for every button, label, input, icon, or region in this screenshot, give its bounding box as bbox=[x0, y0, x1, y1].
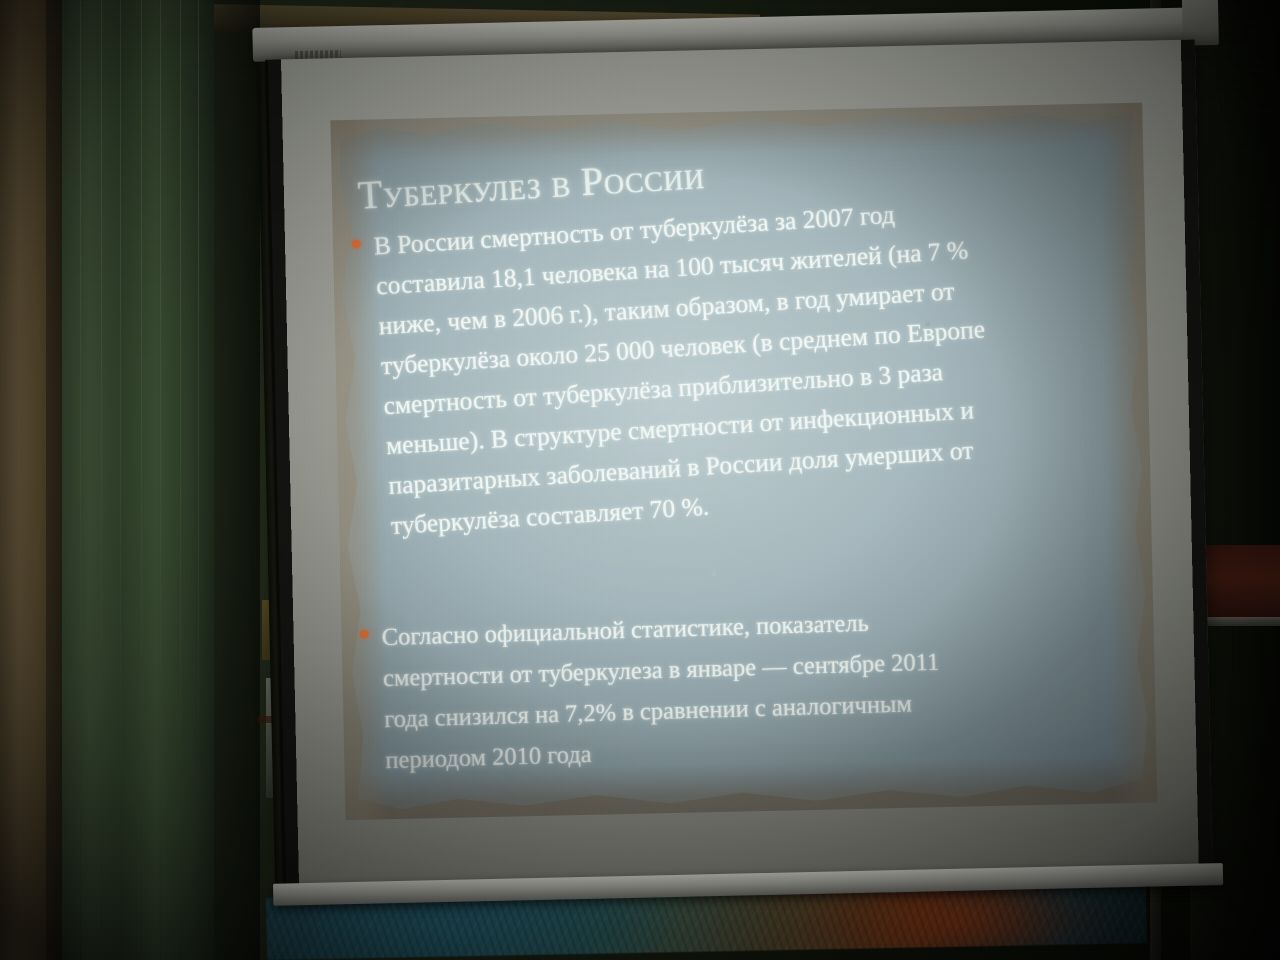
blinds-shadow bbox=[190, 0, 260, 960]
screenshot-root: Туберкулез в России В России смертность … bbox=[0, 0, 1280, 960]
slide-text-layer: Туберкулез в России В России смертность … bbox=[330, 103, 1157, 821]
projected-slide: Туберкулез в России В России смертность … bbox=[330, 103, 1157, 821]
pull-down-projection-screen: Туберкулез в России В России смертность … bbox=[252, 0, 1232, 934]
slide-bullet-1-text: В России смертность от туберкулёза за 20… bbox=[373, 180, 1151, 546]
slide-title: Туберкулез в России bbox=[357, 155, 706, 216]
bullet-dot-icon bbox=[360, 630, 369, 639]
slide-bullet-2-text: Согласно официальной статистике, показат… bbox=[381, 595, 1146, 781]
bullet-dot-icon bbox=[351, 239, 361, 249]
